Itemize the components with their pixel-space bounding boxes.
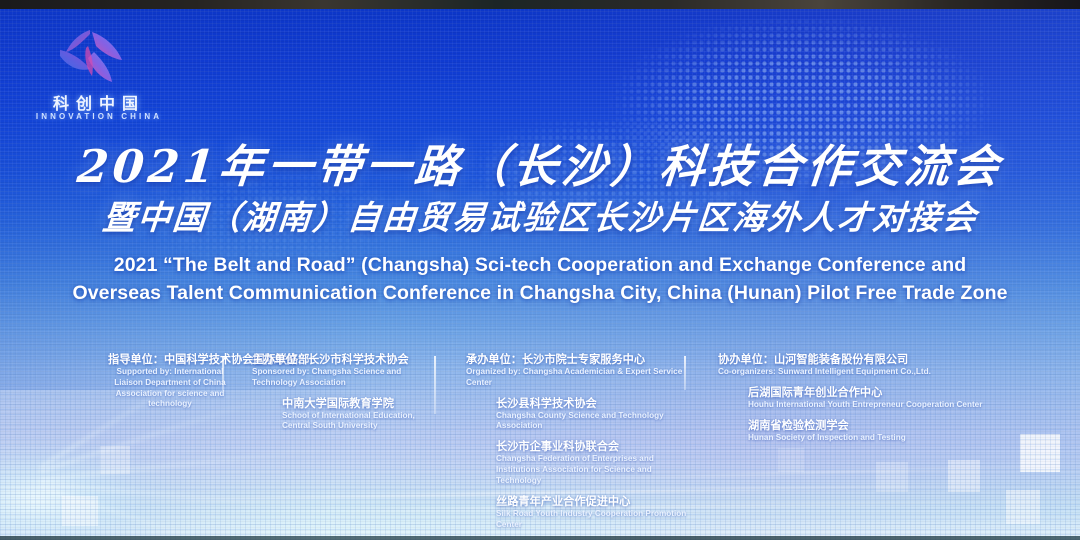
organizer-en: School of International Education, Centr… (282, 411, 444, 433)
innovation-china-logo: 科创中国 INNOVATION CHINA (24, 26, 174, 126)
organizer-column-organized-by: 承办单位：长沙市院士专家服务中心 Organized by: Changsha … (444, 352, 694, 537)
organizer-en: Organized by: Changsha Academician & Exp… (466, 367, 694, 389)
organizer-entry: 主办单位：长沙市科学技术协会 Sponsored by: Changsha Sc… (252, 352, 444, 389)
organizer-cn: 长沙县科学技术协会 (496, 396, 694, 411)
organizer-en: Silk Road Youth Industry Cooperation Pro… (496, 509, 694, 531)
column-divider (434, 356, 436, 414)
column-divider (684, 356, 686, 390)
organizer-cn: 协办单位：山河智能装备股份有限公司 (718, 352, 994, 367)
organizer-cn: 指导单位：中国科学技术协会国际联络部 (108, 352, 232, 367)
organizer-en: Supported by: International Liaison Depa… (108, 367, 232, 410)
organizer-en: Hunan Society of Inspection and Testing (748, 433, 994, 444)
logo-en-text: INNOVATION CHINA (24, 112, 174, 121)
page-title-cn-line1: 2021年一带一路（长沙）科技合作交流会 (0, 140, 1080, 193)
organizer-entry: 长沙市企事业科协联合会 Changsha Federation of Enter… (466, 439, 694, 486)
organizer-cn: 承办单位：长沙市院士专家服务中心 (466, 352, 694, 367)
organizer-en: Changsha County Science and Technology A… (496, 411, 694, 433)
organizer-columns: 指导单位：中国科学技术协会国际联络部 Supported by: Interna… (0, 352, 1080, 512)
organizer-cn: 中南大学国际教育学院 (282, 396, 444, 411)
organizer-cn: 后湖国际青年创业合作中心 (748, 385, 994, 400)
organizer-entry: 后湖国际青年创业合作中心 Houhu International Youth E… (718, 385, 994, 411)
organizer-en: Co-organizers: Sunward Intelligent Equip… (718, 367, 994, 378)
page-title-en: 2021 “The Belt and Road” (Changsha) Sci-… (0, 252, 1080, 307)
photo-top-edge (0, 0, 1080, 9)
conference-backdrop-photo: 科创中国 INNOVATION CHINA 2021年一带一路（长沙）科技合作交… (0, 0, 1080, 540)
organizer-cn: 主办单位：长沙市科学技术协会 (252, 352, 444, 367)
organizer-entry: 长沙县科学技术协会 Changsha County Science and Te… (466, 396, 694, 433)
organizer-cn: 湖南省检验检测学会 (748, 418, 994, 433)
organizer-cn: 长沙市企事业科协联合会 (496, 439, 694, 454)
organizer-entry: 丝路青年产业合作促进中心 Silk Road Youth Industry Co… (466, 494, 694, 531)
organizer-column-co-organizers: 协办单位：山河智能装备股份有限公司 Co-organizers: Sunward… (694, 352, 994, 450)
page-title-en-line1: 2021 “The Belt and Road” (Changsha) Sci-… (0, 252, 1080, 280)
organizer-en: Sponsored by: Changsha Science and Techn… (252, 367, 444, 389)
organizer-en: Changsha Federation of Enterprises and I… (496, 454, 694, 486)
column-divider (222, 356, 224, 390)
organizer-cn: 丝路青年产业合作促进中心 (496, 494, 694, 509)
page-title-cn-line2: 暨中国（湖南）自由贸易试验区长沙片区海外人才对接会 (0, 197, 1080, 240)
organizer-en: Houhu International Youth Entrepreneur C… (748, 400, 994, 411)
logo-cn-text: 科创中国 (24, 90, 174, 114)
organizer-entry: 湖南省检验检测学会 Hunan Society of Inspection an… (718, 418, 994, 444)
organizer-column-sponsored-by: 主办单位：长沙市科学技术协会 Sponsored by: Changsha Sc… (232, 352, 444, 439)
organizer-column-supported-by: 指导单位：中国科学技术协会国际联络部 Supported by: Interna… (0, 352, 232, 417)
innovation-china-butterfly-mark (52, 26, 130, 88)
organizer-entry: 承办单位：长沙市院士专家服务中心 Organized by: Changsha … (466, 352, 694, 389)
page-title-en-line2: Overseas Talent Communication Conference… (0, 280, 1080, 308)
organizer-entry: 协办单位：山河智能装备股份有限公司 Co-organizers: Sunward… (718, 352, 994, 378)
title-block: 2021年一带一路（长沙）科技合作交流会 暨中国（湖南）自由贸易试验区长沙片区海… (0, 140, 1080, 307)
organizer-entry: 中南大学国际教育学院 School of International Educa… (252, 396, 444, 433)
photo-bottom-edge (0, 536, 1080, 540)
organizer-entry: 指导单位：中国科学技术协会国际联络部 Supported by: Interna… (108, 352, 232, 410)
